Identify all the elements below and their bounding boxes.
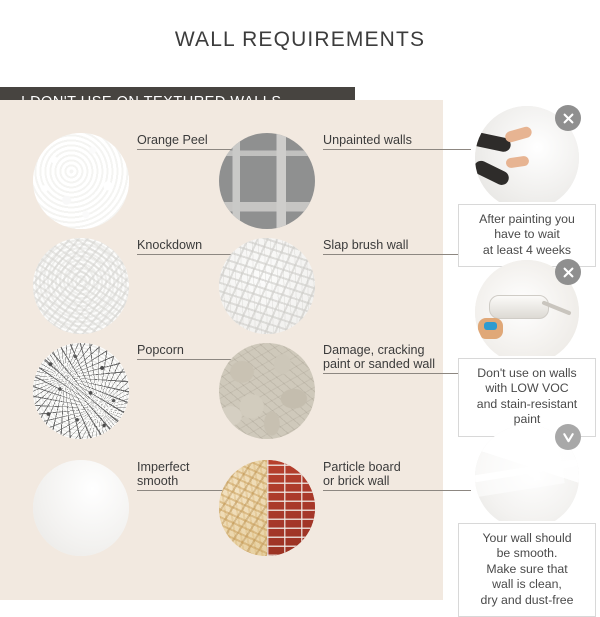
texture-fill <box>33 460 129 556</box>
slap-brush-texture <box>219 238 315 334</box>
texture-label-text: Damage, cracking paint or sanded wall <box>323 343 473 371</box>
texture-label: Damage, cracking paint or sanded wall <box>323 343 473 374</box>
texture-fill <box>219 133 315 229</box>
texture-fill <box>33 343 129 439</box>
imperfect-smooth-texture <box>33 460 129 556</box>
knockdown-texture <box>33 238 129 334</box>
x-mark-icon <box>555 105 581 131</box>
particle-board-brick-texture <box>219 460 315 556</box>
texture-label-text: Particle board or brick wall <box>323 460 473 488</box>
hand-upper <box>504 125 533 143</box>
info-card: After painting you have to wait at least… <box>458 104 596 267</box>
texture-label-text: Unpainted walls <box>323 133 473 147</box>
texture-label: Particle board or brick wall <box>323 460 473 491</box>
texture-fill <box>33 133 129 229</box>
texture-fill <box>219 238 315 334</box>
label-underline <box>323 254 471 255</box>
card-image <box>471 104 583 202</box>
card-image <box>471 423 583 521</box>
texture-label: Unpainted walls <box>323 133 473 150</box>
particle-board-half <box>219 460 267 556</box>
texture-fill <box>219 343 315 439</box>
unpainted-wall-texture <box>219 133 315 229</box>
info-card: Don't use on walls with LOW VOC and stai… <box>458 258 596 437</box>
page-title: WALL REQUIREMENTS <box>0 28 600 52</box>
card-image <box>471 258 583 356</box>
texture-fill <box>33 238 129 334</box>
check-mark-icon <box>555 424 581 450</box>
label-underline <box>323 373 471 374</box>
texture-label-text: Slap brush wall <box>323 238 473 252</box>
popcorn-texture <box>33 343 129 439</box>
glove-band <box>484 322 496 329</box>
split-fill <box>219 460 315 556</box>
brick-wall-half <box>267 460 315 556</box>
label-underline <box>323 149 471 150</box>
label-underline <box>323 490 471 491</box>
window-light-wash <box>475 425 564 498</box>
orange-peel-texture <box>33 133 129 229</box>
info-card: Your wall should be smooth. Make sure th… <box>458 423 596 617</box>
roller-sleeve <box>489 295 549 319</box>
x-mark-icon <box>555 259 581 285</box>
card-caption: Your wall should be smooth. Make sure th… <box>458 523 596 617</box>
hand-lower <box>506 155 530 168</box>
texture-label: Slap brush wall <box>323 238 473 255</box>
damaged-wall-texture <box>219 343 315 439</box>
